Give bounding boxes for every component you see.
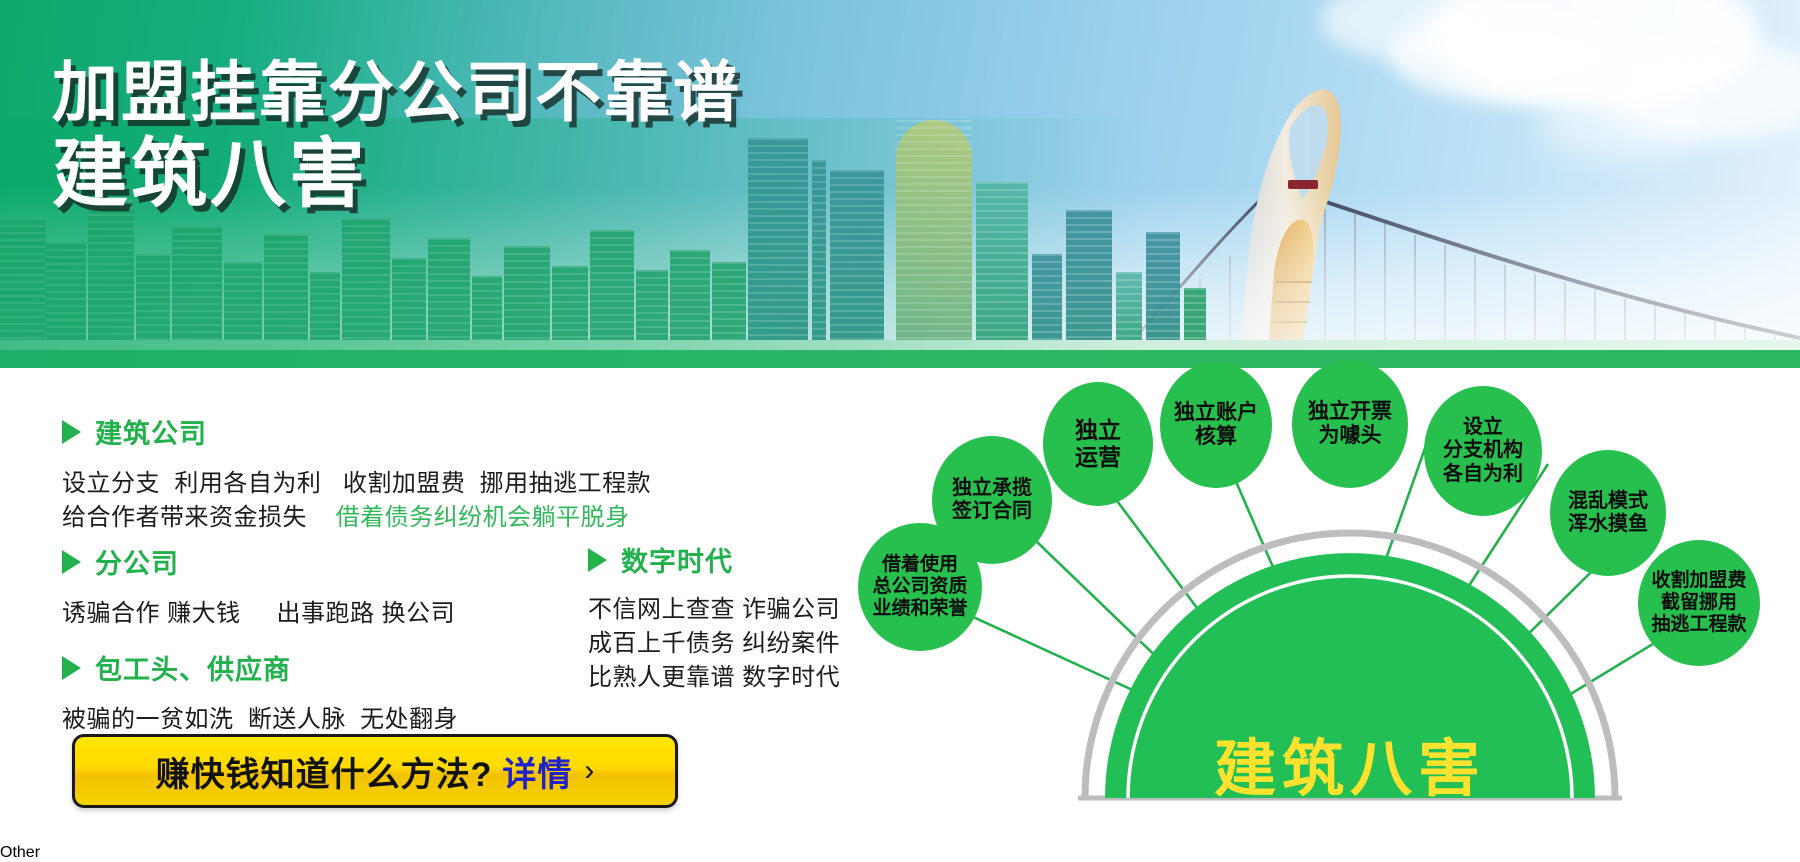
triangle-bullet-icon xyxy=(62,656,81,680)
body-line: 成百上千债务 纠纷案件 xyxy=(588,627,908,661)
cta-link-label: 详情 xyxy=(502,747,572,796)
section-header: 分公司 xyxy=(62,542,622,581)
section-body: 不信网上查查 诈骗公司 成百上千债务 纠纷案件 比熟人更靠谱 数字时代 xyxy=(588,593,908,695)
bubble-text: 设立分支机构各自为利 xyxy=(1443,416,1523,486)
headline-line-1: 加盟挂靠分公司不靠谱 xyxy=(52,58,742,127)
section-header: 建筑公司 xyxy=(62,412,682,451)
bubble-text: 混乱模式浑水摸鱼 xyxy=(1568,490,1648,536)
body-line: 诱骗合作 赚大钱 出事跑路 换公司 xyxy=(62,597,622,631)
section-title: 数字时代 xyxy=(621,540,733,579)
body-line: 设立分支 利用各自为利 收割加盟费 挪用抽逃工程款 xyxy=(62,467,682,501)
section-digital-era: 数字时代 不信网上查查 诈骗公司 成百上千债务 纠纷案件 比熟人更靠谱 数字时代 xyxy=(588,540,908,695)
body-line: 给合作者带来资金损失 借着债务纠纷机会躺平脱身 xyxy=(62,501,682,535)
hero-headline: 加盟挂靠分公司不靠谱 建筑八害 xyxy=(52,58,742,214)
bubble-text: 独立承揽签订合同 xyxy=(952,477,1032,523)
bubble-text: 借着使用总公司资质业绩和荣誉 xyxy=(872,554,967,620)
dome-fill xyxy=(1105,553,1595,798)
bubble-b3[interactable]: 独立运营 xyxy=(1043,382,1153,506)
bubble-text: 独立开票为噱头 xyxy=(1308,400,1392,449)
bubble-text: 独立运营 xyxy=(1075,417,1121,470)
bubble-b6[interactable]: 设立分支机构各自为利 xyxy=(1424,386,1542,516)
bubble-b7[interactable]: 混乱模式浑水摸鱼 xyxy=(1550,450,1666,576)
body-line-text: 给合作者带来资金损失 xyxy=(62,504,307,531)
headline-line-2: 建筑八害 xyxy=(52,135,742,214)
body-line: 比熟人更靠谱 数字时代 xyxy=(588,661,908,695)
chevron-right-icon: › xyxy=(584,754,594,788)
section-branch-company: 分公司 诱骗合作 赚大钱 出事跑路 换公司 xyxy=(62,542,622,631)
section-body: 设立分支 利用各自为利 收割加盟费 挪用抽逃工程款 给合作者带来资金损失 借着债… xyxy=(62,467,682,535)
section-title: 包工头、供应商 xyxy=(95,648,291,687)
body-line: 被骗的一贫如洗 断送人脉 无处翻身 xyxy=(62,703,682,737)
hero-banner: 加盟挂靠分公司不靠谱 建筑八害 xyxy=(0,0,1800,368)
bubble-b2[interactable]: 独立承揽签订合同 xyxy=(932,436,1052,564)
triangle-bullet-icon xyxy=(62,550,81,574)
bubble-text: 独立账户核算 xyxy=(1174,401,1258,450)
section-title: 分公司 xyxy=(95,542,179,581)
bubble-text: 收割加盟费截留挪用抽逃工程款 xyxy=(1651,570,1746,636)
triangle-bullet-icon xyxy=(588,548,607,572)
section-body: 诱骗合作 赚大钱 出事跑路 换公司 xyxy=(62,597,622,631)
body-line-highlight: 借着债务纠纷机会躺平脱身 xyxy=(336,504,630,531)
section-title: 建筑公司 xyxy=(95,412,207,451)
bubble-b8[interactable]: 收割加盟费截留挪用抽逃工程款 xyxy=(1638,540,1760,666)
poster-root: 加盟挂靠分公司不靠谱 建筑八害 建筑公司 设立分支 利用各自为利 收割加盟费 挪… xyxy=(0,0,1800,844)
section-construction-company: 建筑公司 设立分支 利用各自为利 收割加盟费 挪用抽逃工程款 给合作者带来资金损… xyxy=(62,412,682,535)
section-body: 被骗的一贫如洗 断送人脉 无处翻身 xyxy=(62,703,682,737)
bubble-b5[interactable]: 独立开票为噱头 xyxy=(1292,360,1408,488)
bubble-b4[interactable]: 独立账户核算 xyxy=(1160,362,1272,488)
triangle-bullet-icon xyxy=(62,420,81,444)
cta-main-label: 赚快钱知道什么方法? xyxy=(156,747,493,796)
cta-button[interactable]: 赚快钱知道什么方法? 详情 › xyxy=(72,734,678,808)
bahai-diagram: 建筑八害 借着使用总公司资质业绩和荣誉 独立承揽签订合同 独立运营 独立账户核算… xyxy=(900,368,1800,844)
